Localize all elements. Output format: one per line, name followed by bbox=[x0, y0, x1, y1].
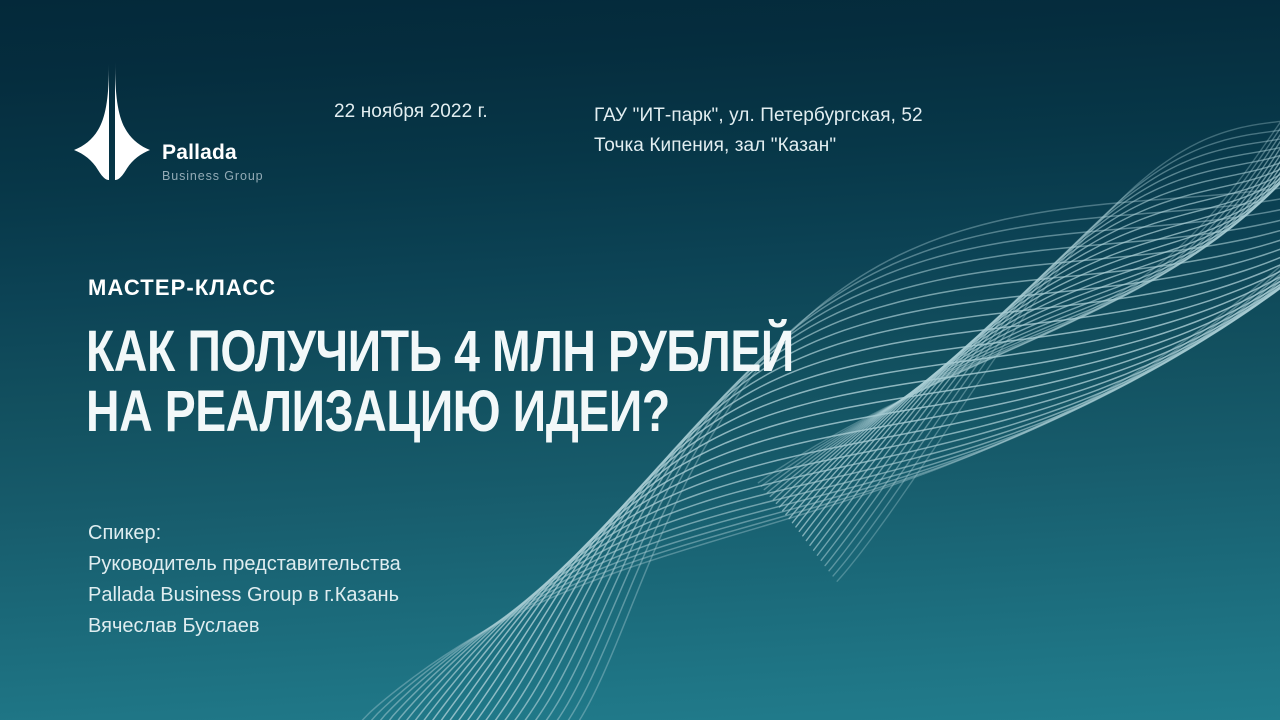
ribbon-line bbox=[814, 115, 1280, 550]
venue-line-2: Точка Кипения, зал "Казан" bbox=[594, 131, 923, 161]
title-line-1: КАК ПОЛУЧИТЬ 4 МЛН РУБЛЕЙ bbox=[86, 322, 694, 382]
ribbon-line bbox=[833, 104, 1280, 576]
ribbon-line bbox=[806, 117, 1280, 541]
ribbon-line bbox=[773, 103, 1280, 499]
speaker-block: Спикер: Руководитель представительства P… bbox=[88, 518, 401, 642]
event-type-eyebrow: МАСТЕР-КЛАСС bbox=[88, 275, 276, 301]
ribbon-line bbox=[825, 110, 1280, 566]
ribbon-line bbox=[779, 108, 1280, 507]
speaker-company: Pallada Business Group в г.Казань bbox=[88, 580, 401, 611]
ribbon-line bbox=[792, 115, 1280, 523]
ribbon-line bbox=[810, 116, 1280, 545]
presentation-slide: Pallada Business Group 22 ноября 2022 г.… bbox=[0, 0, 1280, 720]
ribbon-line bbox=[789, 113, 1280, 518]
ribbon-line bbox=[776, 106, 1280, 504]
ribbon-line bbox=[817, 114, 1280, 555]
pallada-star-icon bbox=[74, 62, 150, 180]
ribbon-line bbox=[829, 107, 1280, 571]
logo-lockup: Pallada Business Group bbox=[74, 62, 314, 187]
logo-wordmark: Pallada Business Group bbox=[162, 142, 264, 183]
ribbon-line bbox=[786, 111, 1280, 514]
speaker-label: Спикер: bbox=[88, 518, 401, 549]
ribbon-line bbox=[796, 116, 1280, 527]
title-line-2: НА РЕАЛИЗАЦИЮ ИДЕИ? bbox=[86, 382, 694, 442]
logo-subtitle: Business Group bbox=[162, 170, 264, 183]
ribbon-line bbox=[783, 110, 1280, 511]
ribbon-line bbox=[799, 116, 1280, 531]
speaker-role: Руководитель представительства bbox=[88, 549, 401, 580]
speaker-name: Вячеслав Буслаев bbox=[88, 611, 401, 642]
event-venue: ГАУ "ИТ-парк", ул. Петербургская, 52 Точ… bbox=[594, 101, 923, 161]
ribbon-line bbox=[803, 117, 1280, 536]
ribbon-line bbox=[837, 100, 1280, 581]
event-date: 22 ноября 2022 г. bbox=[334, 101, 488, 123]
slide-title: КАК ПОЛУЧИТЬ 4 МЛН РУБЛЕЙ НА РЕАЛИЗАЦИЮ … bbox=[86, 322, 846, 442]
ribbon-line bbox=[821, 112, 1280, 560]
venue-line-1: ГАУ "ИТ-парк", ул. Петербургская, 52 bbox=[594, 101, 923, 131]
logo-title: Pallada bbox=[162, 142, 264, 163]
